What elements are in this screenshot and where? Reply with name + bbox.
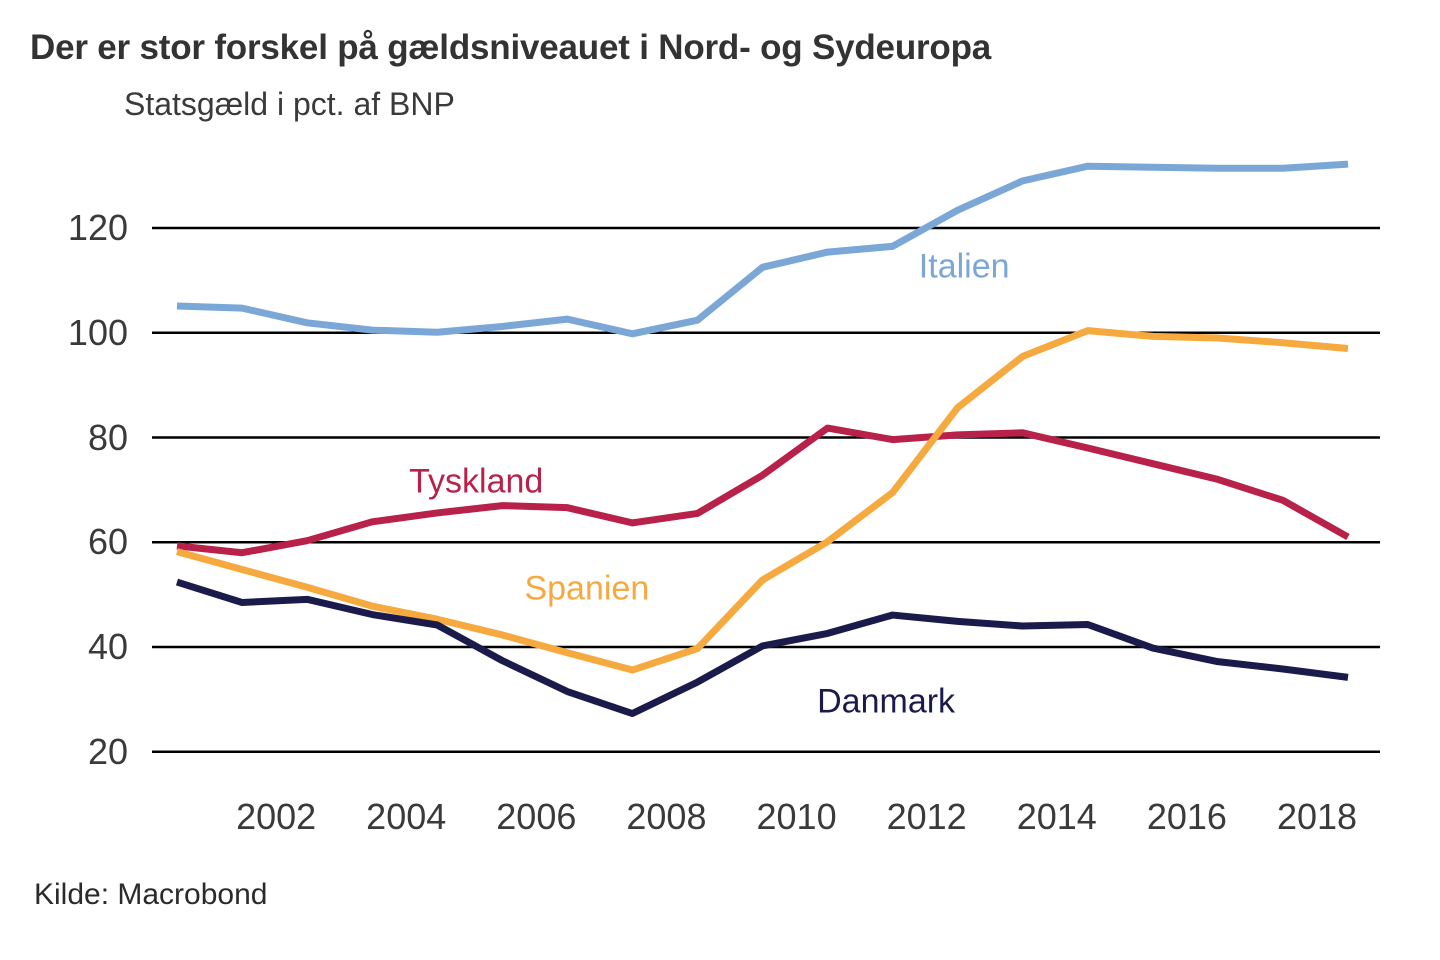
series-label-spanien: Spanien [524,570,649,609]
x-tick-label: 2002 [206,796,346,838]
y-tick-label: 40 [18,626,128,668]
y-tick-label: 120 [18,207,128,249]
series-line-tyskland [177,428,1348,553]
y-tick-label: 20 [18,731,128,773]
x-tick-label: 2006 [466,796,606,838]
series-label-danmark: Danmark [817,682,955,721]
source-note: Kilde: Macrobond [34,878,267,912]
x-tick-label: 2004 [336,796,476,838]
series-label-tyskland: Tyskland [409,463,543,502]
x-tick-label: 2012 [857,796,997,838]
chart-container: Der er stor forskel på gældsniveauet i N… [0,0,1440,960]
y-tick-label: 80 [18,417,128,459]
series-line-italien [177,164,1348,334]
gridlines-group [152,228,1380,752]
y-tick-label: 60 [18,521,128,563]
x-tick-label: 2016 [1117,796,1257,838]
y-tick-label: 100 [18,312,128,354]
x-tick-label: 2018 [1247,796,1387,838]
series-lines-group [177,164,1348,713]
series-line-spanien [177,331,1348,670]
x-tick-label: 2008 [596,796,736,838]
x-tick-label: 2014 [987,796,1127,838]
series-label-italien: Italien [919,248,1010,287]
x-tick-label: 2010 [727,796,867,838]
